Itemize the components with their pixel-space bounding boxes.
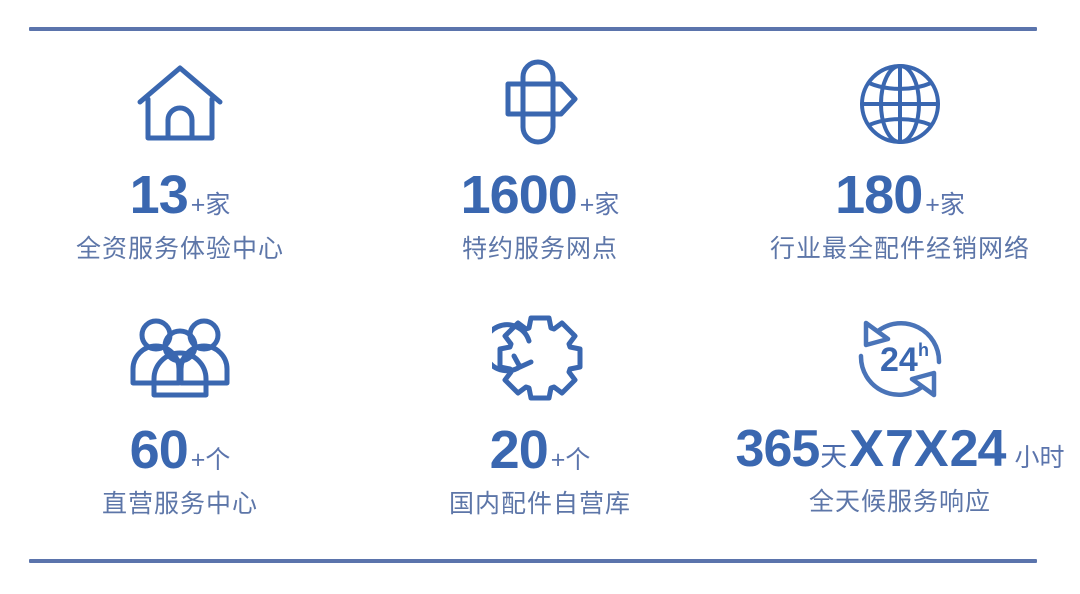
stat-number: 180	[835, 168, 922, 222]
stat-card-parts-distribution-network: 180 +家 行业最全配件经销网络	[720, 40, 1080, 264]
stat-card-service-experience-centers: 13 +家 全资服务体验中心	[0, 40, 360, 264]
gear-refresh-icon	[492, 311, 588, 407]
stat-unit: +家	[925, 193, 965, 218]
stats-grid: 13 +家 全资服务体验中心 1600 +家 特约服务网点	[0, 40, 1080, 550]
stat-number-weekdays: 7	[885, 423, 913, 475]
stat-caption: 国内配件自营库	[449, 491, 631, 519]
multiply-symbol-1: X	[849, 423, 884, 475]
stat-unit: +家	[191, 193, 231, 218]
stat-caption: 直营服务中心	[102, 491, 258, 519]
stat-caption: 全天候服务响应	[809, 489, 991, 517]
stat-number: 60	[130, 423, 188, 477]
icon-h-superscript: h	[918, 340, 929, 360]
top-divider	[29, 27, 1037, 31]
multiply-symbol-2: X	[914, 423, 949, 475]
stat-card-authorized-service-outlets: 1600 +家 特约服务网点	[360, 40, 720, 264]
stat-unit-hours: 小时	[1014, 446, 1064, 471]
stat-figure: 180 +家	[835, 168, 965, 222]
stat-unit: +家	[580, 193, 620, 218]
stat-unit-days: 天	[820, 444, 847, 471]
stat-number: 20	[490, 423, 548, 477]
stat-caption: 特约服务网点	[462, 236, 618, 264]
signpost-icon	[492, 56, 588, 152]
stat-number-hours: 24	[950, 423, 1006, 475]
stat-number: 13	[130, 168, 188, 222]
stat-number-days: 365	[736, 423, 820, 475]
people-group-icon	[126, 311, 234, 407]
stat-unit: +个	[551, 448, 591, 473]
bottom-divider	[29, 559, 1037, 563]
stat-unit: +个	[191, 448, 231, 473]
stat-number: 1600	[461, 168, 577, 222]
stat-card-direct-service-centers: 60 +个 直营服务中心	[0, 295, 360, 519]
stat-caption: 全资服务体验中心	[76, 236, 284, 264]
stat-figure: 60 +个	[130, 423, 231, 477]
icon-24-text: 24	[880, 341, 918, 379]
stat-figure: 13 +家	[130, 168, 231, 222]
stat-figure: 1600 +家	[461, 168, 620, 222]
infographic-poster: 13 +家 全资服务体验中心 1600 +家 特约服务网点	[0, 0, 1080, 594]
stat-figure: 365 天 X 7 X 24 小时	[736, 423, 1065, 475]
stat-figure: 20 +个	[490, 423, 591, 477]
stat-card-round-the-clock-response: 24 h 365 天 X 7 X 24 小时 全天候服务响应	[720, 295, 1080, 517]
stat-caption: 行业最全配件经销网络	[770, 236, 1030, 264]
house-icon	[132, 56, 228, 152]
stat-card-domestic-parts-warehouses: 20 +个 国内配件自营库	[360, 295, 720, 519]
twenty-four-hour-cycle-icon: 24 h	[848, 311, 952, 407]
globe-icon	[853, 56, 947, 152]
